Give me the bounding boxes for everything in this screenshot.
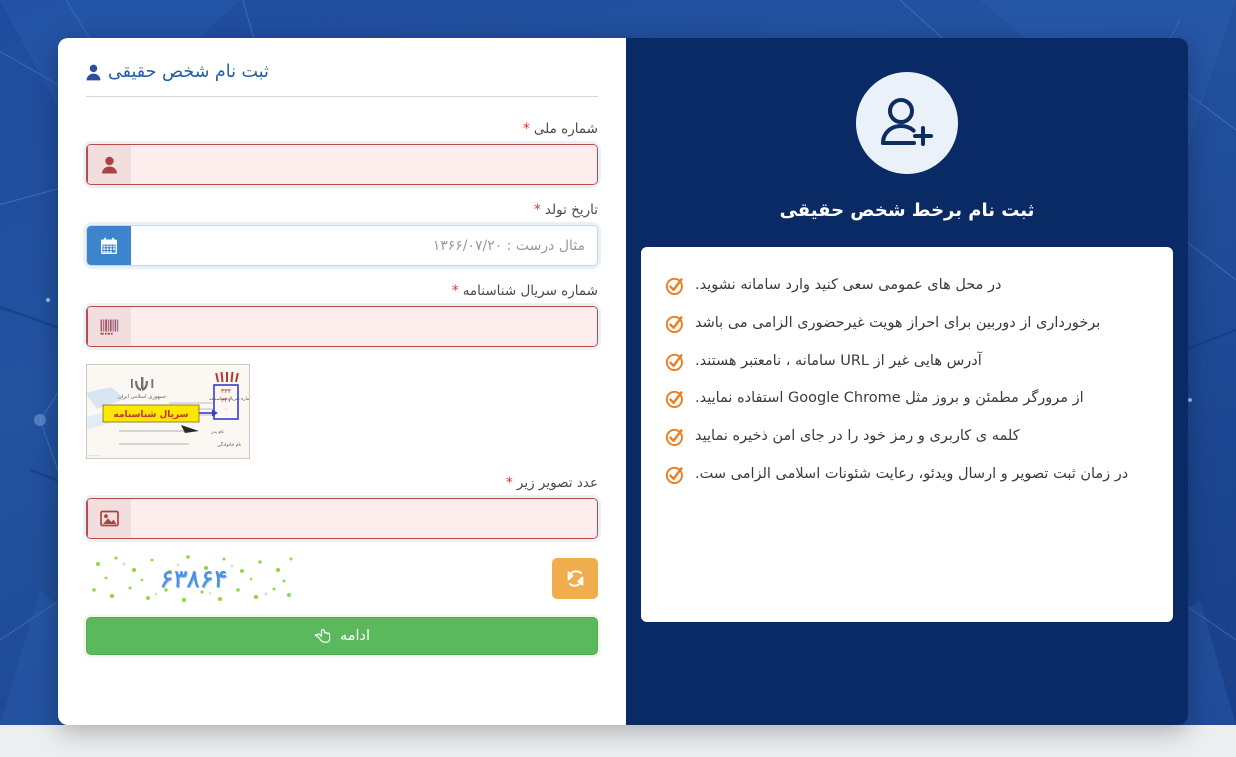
list-item-label: کلمه ی کاربری و رمز خود را در جای امن ذخ… — [695, 426, 1020, 448]
notes-box: در محل های عمومی سعی کنید وارد سامانه نش… — [641, 247, 1173, 622]
field-label-birth-date: تاریخ تولد* — [86, 202, 598, 218]
captcha-refresh-button[interactable] — [552, 558, 598, 599]
registration-form-panel: ثبت نام شخص حقیقی شماره ملی* — [58, 38, 626, 725]
idcard-sample-row: جمهوری اسلامی ایران شماره سریال شناسنامه… — [86, 364, 598, 459]
check-circle-icon — [665, 465, 685, 485]
list-item: در محل های عمومی سعی کنید وارد سامانه نش… — [665, 275, 1149, 297]
svg-text:۰: ۰ — [224, 405, 227, 413]
continue-button-label: ادامه — [340, 628, 370, 644]
svg-text:———: ——— — [88, 453, 99, 457]
required-marker: * — [506, 475, 513, 491]
check-circle-icon — [665, 427, 685, 447]
user-icon — [87, 145, 131, 184]
national-id-input-group[interactable] — [86, 144, 598, 185]
user-plus-icon — [877, 95, 937, 151]
list-item-label: از مرورگر مطمئن و بروز مثل Google Chrome… — [695, 388, 1084, 410]
list-item: کلمه ی کاربری و رمز خود را در جای امن ذخ… — [665, 426, 1149, 448]
list-item-label: در زمان ثبت تصویر و ارسال ویدئو، رعایت ش… — [695, 464, 1128, 486]
field-label-captcha: عدد تصویر زیر* — [86, 475, 598, 491]
captcha-code: ۶۳۸۶۴ — [86, 550, 301, 606]
continue-button[interactable]: ادامه — [86, 617, 598, 655]
idcard-sample-image: جمهوری اسلامی ایران شماره سریال شناسنامه… — [86, 364, 250, 459]
list-item-label: آدرس هایی غیر از URL سامانه ، نامعتبر هس… — [695, 351, 982, 373]
registration-card: ثبت نام شخص حقیقی شماره ملی* — [58, 38, 1188, 725]
birth-date-input[interactable] — [131, 226, 597, 265]
required-marker: * — [452, 283, 459, 299]
list-item: از مرورگر مطمئن و بروز مثل Google Chrome… — [665, 388, 1149, 410]
field-certificate-serial: شماره سریال شناسنامه* — [86, 283, 598, 347]
captcha-input[interactable] — [131, 499, 597, 538]
check-circle-icon — [665, 389, 685, 409]
user-icon — [86, 64, 101, 81]
check-circle-icon — [665, 276, 685, 296]
certificate-serial-input-group[interactable] — [86, 306, 598, 347]
svg-text:جمهوری اسلامی ایران: جمهوری اسلامی ایران — [118, 394, 166, 400]
field-label-national-id: شماره ملی* — [86, 121, 598, 137]
svg-text:۲۳۱: ۲۳۱ — [221, 396, 231, 404]
captcha-input-group[interactable] — [86, 498, 598, 539]
list-item: آدرس هایی غیر از URL سامانه ، نامعتبر هس… — [665, 351, 1149, 373]
required-marker: * — [523, 121, 530, 137]
certificate-serial-input[interactable] — [131, 307, 597, 346]
info-heading: ثبت نام برخط شخص حقیقی — [780, 200, 1035, 221]
page-title-text: ثبت نام شخص حقیقی — [108, 62, 269, 82]
check-circle-icon — [665, 352, 685, 372]
national-id-input[interactable] — [131, 145, 597, 184]
barcode-icon — [87, 307, 131, 346]
field-label-certificate-serial: شماره سریال شناسنامه* — [86, 283, 598, 299]
field-birth-date: تاریخ تولد* — [86, 202, 598, 266]
list-item-label: برخورداری از دوربین برای احراز هویت غیرح… — [695, 313, 1100, 335]
list-item: برخورداری از دوربین برای احراز هویت غیرح… — [665, 313, 1149, 335]
svg-text:سریال شناسنامه: سریال شناسنامه — [114, 410, 189, 420]
page-title: ثبت نام شخص حقیقی — [86, 56, 598, 97]
required-marker: * — [534, 202, 541, 218]
pointing-hand-icon — [314, 628, 331, 645]
birth-date-input-group[interactable] — [86, 225, 598, 266]
calendar-icon[interactable] — [87, 226, 131, 265]
refresh-icon — [565, 568, 586, 589]
svg-text:نام خانوادگی: نام خانوادگی — [217, 441, 241, 448]
avatar — [856, 72, 958, 174]
check-circle-icon — [665, 314, 685, 334]
field-captcha: عدد تصویر زیر* — [86, 475, 598, 539]
svg-text:نام پدر: نام پدر — [210, 430, 224, 435]
captcha-row: ۶۳۸۶۴ — [86, 556, 598, 600]
image-icon — [87, 499, 131, 538]
captcha-image: ۶۳۸۶۴ — [86, 550, 301, 606]
list-item: در زمان ثبت تصویر و ارسال ویدئو، رعایت ش… — [665, 464, 1149, 486]
info-panel: ثبت نام برخط شخص حقیقی در محل های عمومی … — [626, 38, 1188, 725]
list-item-label: در محل های عمومی سعی کنید وارد سامانه نش… — [695, 275, 1002, 297]
field-national-id: شماره ملی* — [86, 121, 598, 185]
svg-text:۳۳۴: ۳۳۴ — [221, 387, 232, 395]
